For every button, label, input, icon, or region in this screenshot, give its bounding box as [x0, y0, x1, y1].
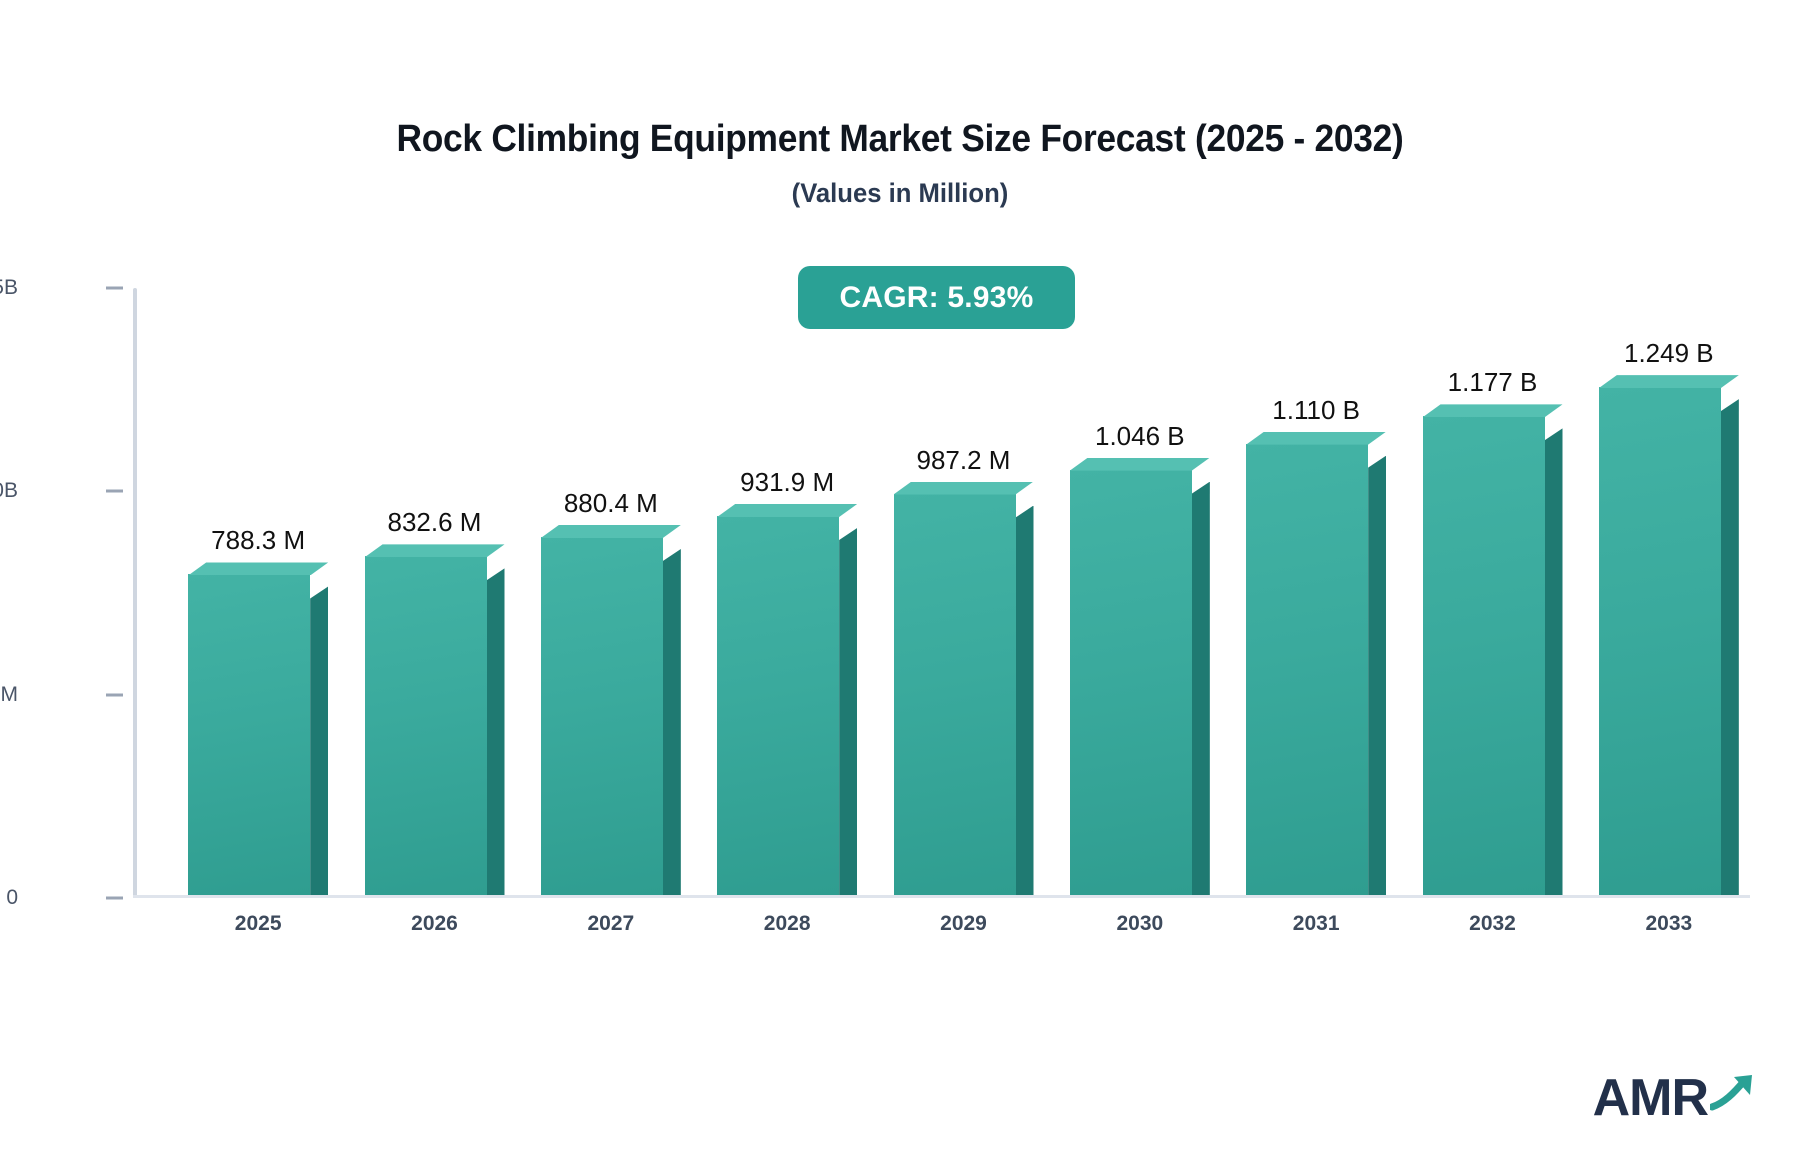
bar-top-3d — [541, 525, 681, 538]
x-axis-tick-label: 2026 — [335, 912, 535, 936]
bar — [1070, 470, 1192, 895]
y-axis-tick-mark — [106, 897, 123, 900]
bar-top-3d — [1246, 432, 1386, 445]
x-axis-tick-label: 2025 — [158, 912, 358, 936]
up-arrow-icon — [1710, 1073, 1756, 1118]
y-axis-tick-label: 500.0M — [0, 683, 18, 707]
amr-logo: AMR — [1593, 1072, 1756, 1124]
bar-top-3d — [717, 504, 857, 517]
x-axis-tick-label: 2031 — [1216, 912, 1416, 936]
bar-side-3d — [1545, 428, 1563, 895]
bar-face — [1246, 444, 1368, 895]
amr-logo-text: AMR — [1593, 1072, 1708, 1124]
bar-side-3d — [839, 528, 857, 895]
bar-side-3d — [1721, 399, 1739, 895]
bar-side-3d — [1192, 482, 1210, 895]
bar-value-label: 1.177 B — [1373, 367, 1613, 398]
bar-face — [1423, 416, 1545, 895]
bar-top-3d — [365, 544, 505, 557]
x-axis-line — [133, 895, 1750, 898]
bar — [1246, 444, 1368, 895]
bar-top-3d — [1070, 458, 1210, 471]
y-axis-tick-label: 0 — [6, 886, 18, 910]
bar-face — [541, 537, 663, 895]
bar-face — [717, 516, 839, 895]
bar-face — [188, 574, 310, 895]
x-axis-tick-label: 2030 — [1040, 912, 1240, 936]
bar-top-3d — [188, 562, 328, 575]
bar — [717, 516, 839, 895]
bar — [365, 556, 487, 895]
bar — [894, 494, 1016, 895]
x-axis-tick-label: 2033 — [1569, 912, 1769, 936]
bar-face — [365, 556, 487, 895]
bar-value-label: 1.110 B — [1196, 395, 1436, 426]
bar-side-3d — [1016, 506, 1034, 895]
bar — [1599, 387, 1721, 895]
x-axis-tick-label: 2029 — [864, 912, 1064, 936]
bar-side-3d — [663, 549, 681, 895]
bar-top-3d — [1599, 375, 1739, 388]
bar-face — [1599, 387, 1721, 895]
y-axis-tick-mark — [106, 693, 123, 696]
bar-top-3d — [894, 482, 1034, 495]
y-axis-tick-mark — [106, 490, 123, 493]
bar-value-label: 1.249 B — [1549, 338, 1789, 369]
x-axis-tick-label: 2032 — [1393, 912, 1593, 936]
bar — [1423, 416, 1545, 895]
plot-area: 0500.0M1.0B1.5B 788.3 M832.6 M880.4 M931… — [133, 288, 1750, 898]
x-axis-tick-label: 2027 — [511, 912, 711, 936]
bar-side-3d — [487, 568, 505, 895]
y-axis-line — [133, 288, 137, 898]
bar-side-3d — [310, 586, 328, 895]
chart-title: Rock Climbing Equipment Market Size Fore… — [63, 118, 1737, 161]
bar-face — [1070, 470, 1192, 895]
bar-top-3d — [1423, 404, 1563, 417]
x-axis-tick-label: 2028 — [687, 912, 887, 936]
bar — [188, 574, 310, 895]
bar-face — [894, 494, 1016, 895]
y-axis-tick-label: 1.0B — [0, 479, 18, 503]
y-axis-tick-mark — [106, 287, 123, 290]
chart-canvas: Rock Climbing Equipment Market Size Fore… — [0, 0, 1800, 1156]
chart-subtitle: (Values in Million) — [45, 178, 1755, 209]
bar — [541, 537, 663, 895]
y-axis-tick-label: 1.5B — [0, 276, 18, 300]
bar-side-3d — [1368, 456, 1386, 895]
